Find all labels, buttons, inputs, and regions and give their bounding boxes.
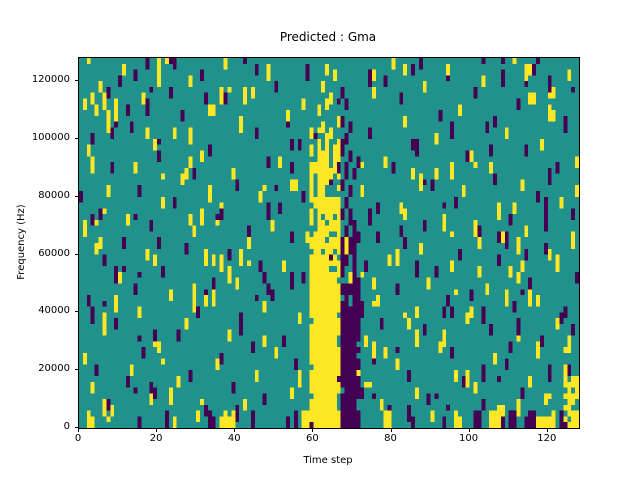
x-tick-label: 80 <box>361 433 421 444</box>
x-tick-label: 100 <box>439 433 499 444</box>
x-tick-mark <box>469 428 470 432</box>
x-tick-mark <box>78 428 79 432</box>
y-tick-mark <box>75 80 79 81</box>
heatmap-image <box>79 58 579 428</box>
x-axis-title: Time step <box>78 455 578 467</box>
y-axis-title: Frequency (Hz) <box>16 132 28 352</box>
y-tick-mark <box>75 311 79 312</box>
y-tick-label: 20000 <box>2 364 70 374</box>
heatmap-plot-area[interactable] <box>78 57 580 429</box>
y-tick-label: 120000 <box>2 75 70 85</box>
y-tick-mark <box>75 196 79 197</box>
y-axis-tick-labels: 020000400006000080000100000120000 <box>0 0 70 480</box>
x-tick-label: 20 <box>126 433 186 444</box>
x-tick-mark <box>156 428 157 432</box>
x-tick-mark <box>391 428 392 432</box>
y-tick-label: 40000 <box>2 306 70 316</box>
y-tick-label: 100000 <box>2 133 70 143</box>
x-tick-mark <box>547 428 548 432</box>
figure-canvas: Predicted : Gma 020000400006000080000100… <box>0 0 640 480</box>
x-tick-mark <box>234 428 235 432</box>
y-tick-label: 80000 <box>2 191 70 201</box>
y-tick-mark <box>75 369 79 370</box>
x-tick-label: 120 <box>517 433 577 444</box>
y-tick-label: 60000 <box>2 249 70 259</box>
page-title: Predicted : Gma <box>78 30 578 44</box>
x-tick-mark <box>312 428 313 432</box>
y-tick-mark <box>75 138 79 139</box>
y-tick-mark <box>75 254 79 255</box>
y-tick-label: 0 <box>2 422 70 432</box>
x-tick-label: 0 <box>48 433 108 444</box>
x-tick-label: 60 <box>282 433 342 444</box>
x-tick-label: 40 <box>204 433 264 444</box>
